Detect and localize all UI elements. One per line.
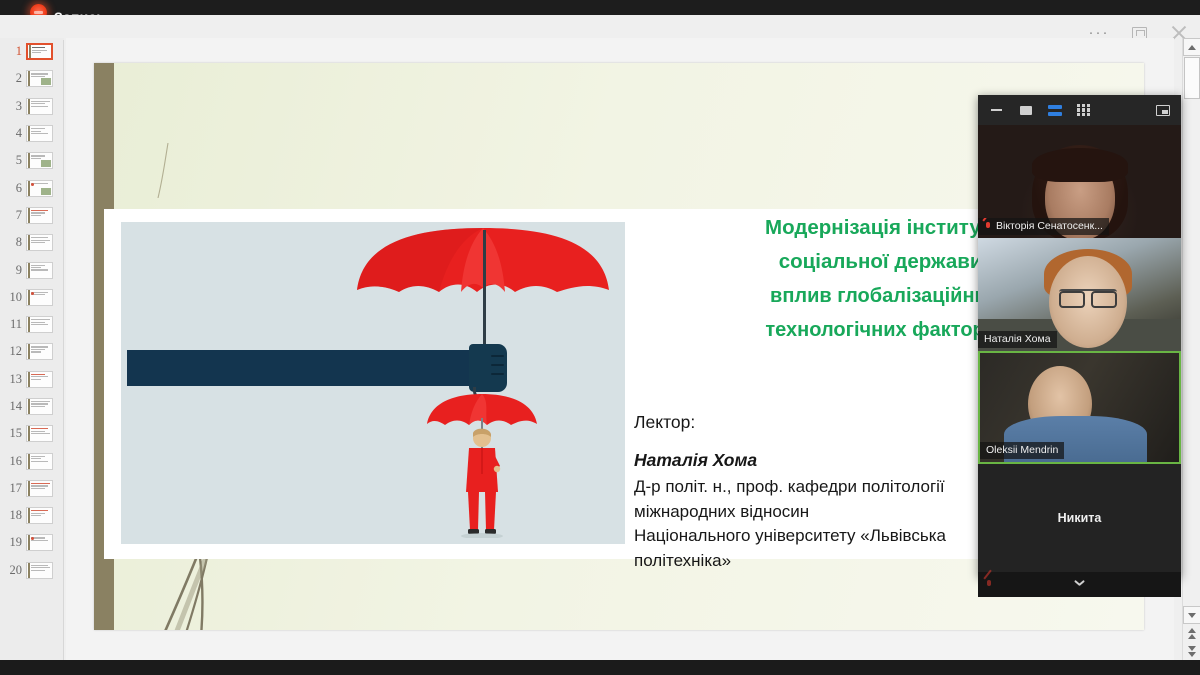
slide-thumbnail-preview [26, 152, 53, 169]
slide-thumbnail-preview [26, 207, 53, 224]
slide-thumbnail-7[interactable]: 7 [0, 202, 64, 229]
slide-thumbnail-10[interactable]: 10 [0, 284, 64, 311]
slide-thumbnail-number: 3 [3, 99, 22, 114]
grid-view-icon [1077, 104, 1090, 117]
slide-thumbnail-preview [26, 398, 53, 415]
maximize-video-button[interactable] [1018, 103, 1033, 118]
participant-nameplate-1: Вікторія Сенатосенк... [978, 218, 1109, 235]
scrollbar-thumb[interactable] [1184, 57, 1200, 99]
slide-thumbnail-13[interactable]: 13 [0, 366, 64, 393]
participant-nameplate-2: Наталія Хома [978, 331, 1057, 348]
participant-name-2: Наталія Хома [984, 333, 1051, 345]
slide-thumbnail-number: 5 [3, 153, 22, 168]
slide-thumbnail-number: 1 [3, 44, 22, 59]
chevron-down-icon[interactable] [1074, 579, 1085, 590]
slide-thumbnail-preview [26, 480, 53, 497]
slide-thumbnail-rail[interactable]: 1234567891011121314151617181920 [0, 38, 64, 660]
video-panel-toolbar [978, 95, 1181, 125]
fist [469, 344, 507, 392]
more-options-icon: ··· [1089, 29, 1110, 37]
slide-thumbnail-preview [26, 98, 53, 115]
participant-name-1: Вікторія Сенатосенк... [996, 220, 1103, 232]
slide-thumbnail-6[interactable]: 6 [0, 174, 64, 201]
picture-in-picture-button[interactable] [1156, 105, 1170, 116]
slide-thumbnail-preview [26, 180, 53, 197]
slide-thumbnail-19[interactable]: 19 [0, 529, 64, 556]
slide-illustration [121, 222, 625, 544]
slide-thumbnail-preview [26, 43, 53, 60]
split-view-button[interactable] [1047, 103, 1062, 118]
scroll-down-icon [1188, 613, 1196, 618]
participant-name-3: Oleksii Mendrin [986, 444, 1058, 456]
double-chevron-up-icon [1188, 628, 1196, 639]
slide-thumbnail-5[interactable]: 5 [0, 147, 64, 174]
slide-thumbnail-4[interactable]: 4 [0, 120, 64, 147]
slide-thumbnail-3[interactable]: 3 [0, 93, 64, 120]
slide-thumbnail-20[interactable]: 20 [0, 557, 64, 584]
slide-thumbnail-preview [26, 562, 53, 579]
slide-thumbnail-preview [26, 425, 53, 442]
double-chevron-down-icon [1188, 646, 1196, 657]
scroll-down-button[interactable] [1183, 606, 1200, 624]
slide-thumbnail-preview [26, 289, 53, 306]
participant-tile-1[interactable]: Вікторія Сенатосенк... [978, 125, 1181, 238]
slide-thumbnail-preview [26, 125, 53, 142]
participant-nameplate-3: Oleksii Mendrin [980, 442, 1064, 459]
slide-thumbnail-number: 15 [3, 426, 22, 441]
slide-thumbnail-2[interactable]: 2 [0, 65, 64, 92]
slide-thumbnail-preview [26, 262, 53, 279]
slide-thumbnail-number: 4 [3, 126, 22, 141]
participant-name-4: Никита [1058, 511, 1102, 525]
slide-thumbnail-number: 9 [3, 263, 22, 278]
protecting-arm [127, 350, 475, 386]
slide-thumbnail-number: 11 [3, 317, 22, 332]
scroll-up-button[interactable] [1183, 38, 1200, 56]
slide-thumbnail-number: 13 [3, 372, 22, 387]
slide-thumbnail-preview [26, 234, 53, 251]
slide-thumbnail-17[interactable]: 17 [0, 475, 64, 502]
slide-thumbnail-number: 20 [3, 563, 22, 578]
slide-thumbnail-number: 19 [3, 535, 22, 550]
slide-thumbnail-preview [26, 70, 53, 87]
umbrella-shaft [483, 230, 486, 352]
decor-grass-top-icon [154, 143, 174, 198]
slide-thumbnail-number: 7 [3, 208, 22, 223]
panel-divider [63, 40, 64, 660]
maximize-icon [1020, 106, 1032, 115]
scrollbar-bottom-controls [1183, 606, 1200, 660]
slide-thumbnail-preview [26, 534, 53, 551]
slide-thumbnail-18[interactable]: 18 [0, 502, 64, 529]
minimize-icon [991, 109, 1002, 112]
slide-thumbnail-11[interactable]: 11 [0, 311, 64, 338]
video-panel-footer[interactable] [978, 572, 1181, 597]
mic-muted-icon-4 [985, 579, 993, 590]
mic-muted-icon [984, 221, 992, 232]
slide-thumbnail-number: 10 [3, 290, 22, 305]
vertical-scrollbar[interactable] [1182, 38, 1200, 660]
slide-thumbnail-1[interactable]: 1 [0, 38, 64, 65]
previous-slide-button[interactable] [1183, 624, 1200, 642]
slide-thumbnail-preview [26, 343, 53, 360]
slide-thumbnail-preview [26, 316, 53, 333]
slide-thumbnail-number: 16 [3, 454, 22, 469]
slide-thumbnail-preview [26, 371, 53, 388]
slide-thumbnail-number: 2 [3, 71, 22, 86]
minimize-video-button[interactable] [989, 103, 1004, 118]
slide-thumbnail-number: 18 [3, 508, 22, 523]
slide-thumbnail-number: 17 [3, 481, 22, 496]
split-view-icon [1048, 105, 1062, 116]
slide-thumbnail-8[interactable]: 8 [0, 229, 64, 256]
participant-tile-3[interactable]: Oleksii Mendrin [978, 351, 1181, 464]
slide-thumbnail-number: 6 [3, 181, 22, 196]
participant-tile-4[interactable]: Никита [978, 464, 1181, 572]
slide-thumbnail-15[interactable]: 15 [0, 420, 64, 447]
slide-thumbnail-preview [26, 507, 53, 524]
slide-thumbnail-preview [26, 453, 53, 470]
slide-thumbnail-16[interactable]: 16 [0, 447, 64, 474]
slide-thumbnail-number: 12 [3, 344, 22, 359]
video-conference-panel[interactable]: Вікторія Сенатосенк... Наталія Хома Olek… [978, 95, 1181, 577]
slide-thumbnail-9[interactable]: 9 [0, 256, 64, 283]
slide-thumbnail-12[interactable]: 12 [0, 338, 64, 365]
slide-thumbnail-14[interactable]: 14 [0, 393, 64, 420]
next-slide-button[interactable] [1183, 642, 1200, 660]
screen-root: Запись ··· 12345678910111213141516171819… [0, 0, 1200, 675]
grid-view-button[interactable] [1076, 103, 1091, 118]
slide-thumbnail-number: 8 [3, 235, 22, 250]
slide-thumbnail-number: 14 [3, 399, 22, 414]
scroll-up-icon [1188, 45, 1196, 50]
participant-tile-2[interactable]: Наталія Хома [978, 238, 1181, 351]
businessman-figure [459, 426, 505, 538]
